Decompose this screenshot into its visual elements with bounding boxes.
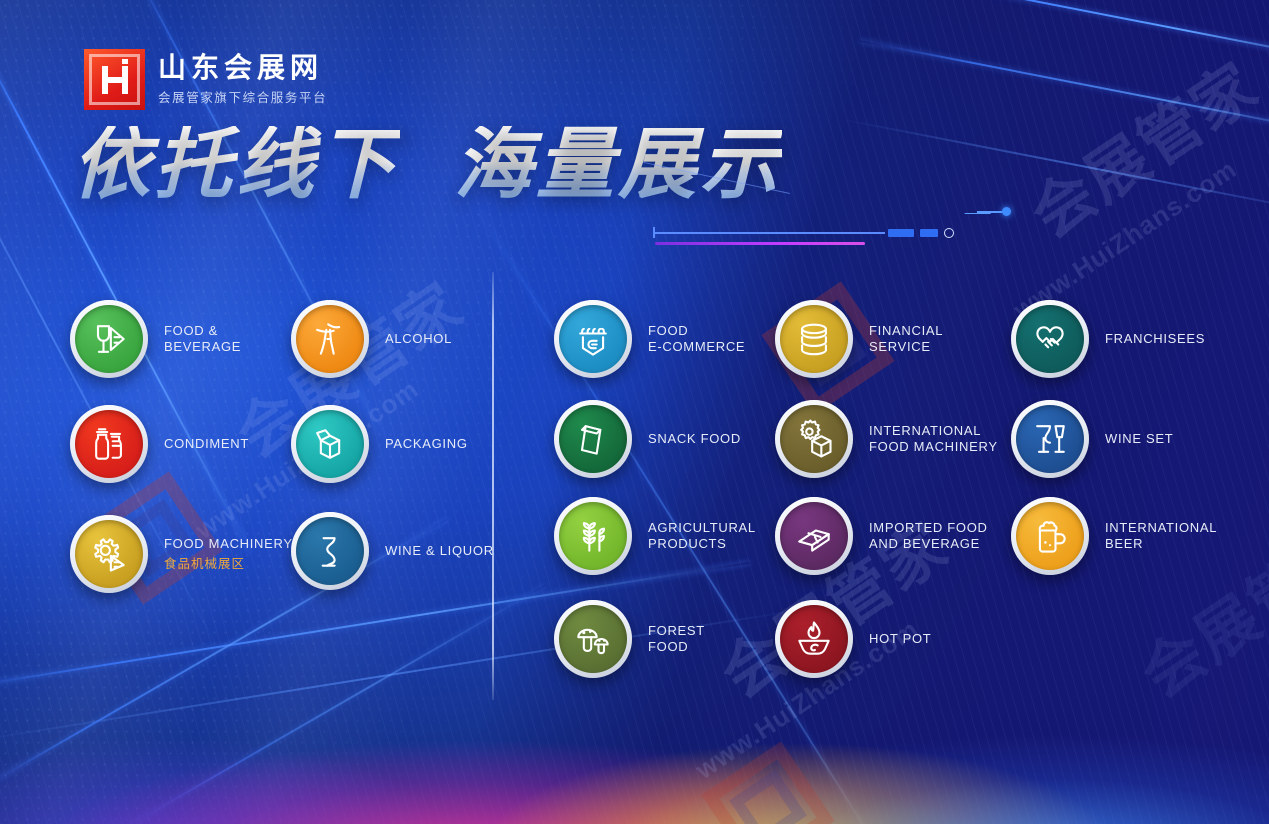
category-label: WINE & LIQUOR: [385, 543, 495, 559]
category-label-cn: 食品机械展区: [164, 553, 294, 572]
category-badge[interactable]: [775, 497, 853, 575]
category-label: HOT POT: [869, 631, 1009, 647]
category-label-group: IMPORTED FOOD AND BEVERAGE: [869, 520, 1009, 552]
category-badge[interactable]: [291, 512, 369, 590]
category-label: SNACK FOOD: [648, 431, 768, 447]
category-label: WINE SET: [1105, 431, 1235, 447]
category-item[interactable]: INTERNATIONAL FOOD MACHINERY: [775, 400, 1009, 478]
shipping-parcel-icon: [780, 502, 848, 570]
category-label-group: FOOD & BEVERAGE: [164, 323, 294, 355]
snack-bag-icon: [559, 405, 627, 473]
alcohol-pourer-icon: [296, 305, 364, 373]
watermark-text-cn: 会展管家: [1010, 37, 1269, 255]
category-label-group: WINE SET: [1105, 431, 1235, 447]
poster-canvas: 会展管家 www.HuiZhans.com 会展管家 www.HuiZhans.…: [0, 0, 1269, 824]
category-label-group: HOT POT: [869, 631, 1009, 647]
page-headline: 依托线下 海量展示: [72, 126, 782, 204]
coin-stack-icon: [780, 305, 848, 373]
wine-glass-leaf-icon: [75, 305, 143, 373]
category-label-group: FINANCIAL SERVICE: [869, 323, 1009, 355]
category-item[interactable]: AGRICULTURAL PRODUCTS: [554, 497, 768, 575]
category-label: ALCOHOL: [385, 331, 495, 347]
category-label: AGRICULTURAL PRODUCTS: [648, 520, 768, 552]
category-badge[interactable]: [1011, 497, 1089, 575]
category-label: FOOD E-COMMERCE: [648, 323, 768, 355]
category-item[interactable]: FOOD E-COMMERCE: [554, 300, 768, 378]
logo-tagline: 会展管家旗下综合服务平台: [158, 87, 327, 106]
category-item[interactable]: HOT POT: [775, 600, 1009, 678]
category-label-group: WINE & LIQUOR: [385, 543, 495, 559]
category-item[interactable]: FOOD & BEVERAGE: [70, 300, 294, 378]
category-badge[interactable]: [775, 600, 853, 678]
category-item[interactable]: PACKAGING: [291, 405, 495, 483]
category-label-group: FOREST FOOD: [648, 623, 768, 655]
site-logo[interactable]: 山东会展网 会展管家旗下综合服务平台: [84, 49, 327, 110]
category-label-group: INTERNATIONAL FOOD MACHINERY: [869, 423, 1009, 455]
category-badge[interactable]: [554, 300, 632, 378]
wine-goblet-icon: [296, 517, 364, 585]
category-label: CONDIMENT: [164, 436, 294, 452]
category-label: INTERNATIONAL BEER: [1105, 520, 1235, 552]
beer-mug-icon: [1016, 502, 1084, 570]
category-badge[interactable]: [554, 400, 632, 478]
category-label: FOREST FOOD: [648, 623, 768, 655]
category-label-group: CONDIMENT: [164, 436, 294, 452]
category-item[interactable]: CONDIMENT: [70, 405, 294, 483]
decorative-tech-line: [650, 205, 1020, 251]
category-badge[interactable]: [70, 515, 148, 593]
category-badge[interactable]: [291, 405, 369, 483]
category-badge[interactable]: [70, 300, 148, 378]
category-label-group: SNACK FOOD: [648, 431, 768, 447]
condiment-bottles-icon: [75, 410, 143, 478]
category-item[interactable]: FOREST FOOD: [554, 600, 768, 678]
category-label-group: AGRICULTURAL PRODUCTS: [648, 520, 768, 552]
logo-title: 山东会展网: [158, 53, 327, 82]
category-label: FOOD MACHINERY: [164, 536, 294, 552]
category-item[interactable]: WINE SET: [1011, 400, 1235, 478]
gear-leaf-icon: [75, 520, 143, 588]
mushrooms-icon: [559, 605, 627, 673]
category-label-group: FOOD MACHINERY食品机械展区: [164, 536, 294, 573]
headline-part-2: 海量展示: [454, 126, 782, 204]
hot-pot-flame-icon: [780, 605, 848, 673]
category-label: FINANCIAL SERVICE: [869, 323, 1009, 355]
category-badge[interactable]: [554, 497, 632, 575]
category-label-group: INTERNATIONAL BEER: [1105, 520, 1235, 552]
category-label-group: ALCOHOL: [385, 331, 495, 347]
category-badge[interactable]: [1011, 400, 1089, 478]
category-label: INTERNATIONAL FOOD MACHINERY: [869, 423, 1009, 455]
headline-part-1: 依托线下: [72, 126, 400, 204]
category-badge[interactable]: [70, 405, 148, 483]
category-badge[interactable]: [1011, 300, 1089, 378]
two-glasses-icon: [1016, 405, 1084, 473]
category-item[interactable]: SNACK FOOD: [554, 400, 768, 478]
category-label: PACKAGING: [385, 436, 495, 452]
category-item[interactable]: FRANCHISEES: [1011, 300, 1235, 378]
shop-e-icon: [559, 305, 627, 373]
gear-package-icon: [780, 405, 848, 473]
category-item[interactable]: ALCOHOL: [291, 300, 495, 378]
category-badge[interactable]: [775, 400, 853, 478]
bottom-glow-blue: [0, 704, 1269, 824]
category-item[interactable]: INTERNATIONAL BEER: [1011, 497, 1235, 575]
category-label-group: FOOD E-COMMERCE: [648, 323, 768, 355]
logo-mark-icon: [84, 49, 145, 110]
category-label: IMPORTED FOOD AND BEVERAGE: [869, 520, 1009, 552]
category-badge[interactable]: [775, 300, 853, 378]
package-box-icon: [296, 410, 364, 478]
category-label-group: PACKAGING: [385, 436, 495, 452]
category-badge[interactable]: [554, 600, 632, 678]
category-label: FOOD & BEVERAGE: [164, 323, 294, 355]
category-item[interactable]: FINANCIAL SERVICE: [775, 300, 1009, 378]
category-label: FRANCHISEES: [1105, 331, 1235, 347]
wheat-ears-icon: [559, 502, 627, 570]
category-item[interactable]: IMPORTED FOOD AND BEVERAGE: [775, 497, 1009, 575]
category-item[interactable]: WINE & LIQUOR: [291, 512, 495, 590]
category-item[interactable]: FOOD MACHINERY食品机械展区: [70, 515, 294, 593]
category-badge[interactable]: [291, 300, 369, 378]
handshake-heart-icon: [1016, 305, 1084, 373]
category-label-group: FRANCHISEES: [1105, 331, 1235, 347]
